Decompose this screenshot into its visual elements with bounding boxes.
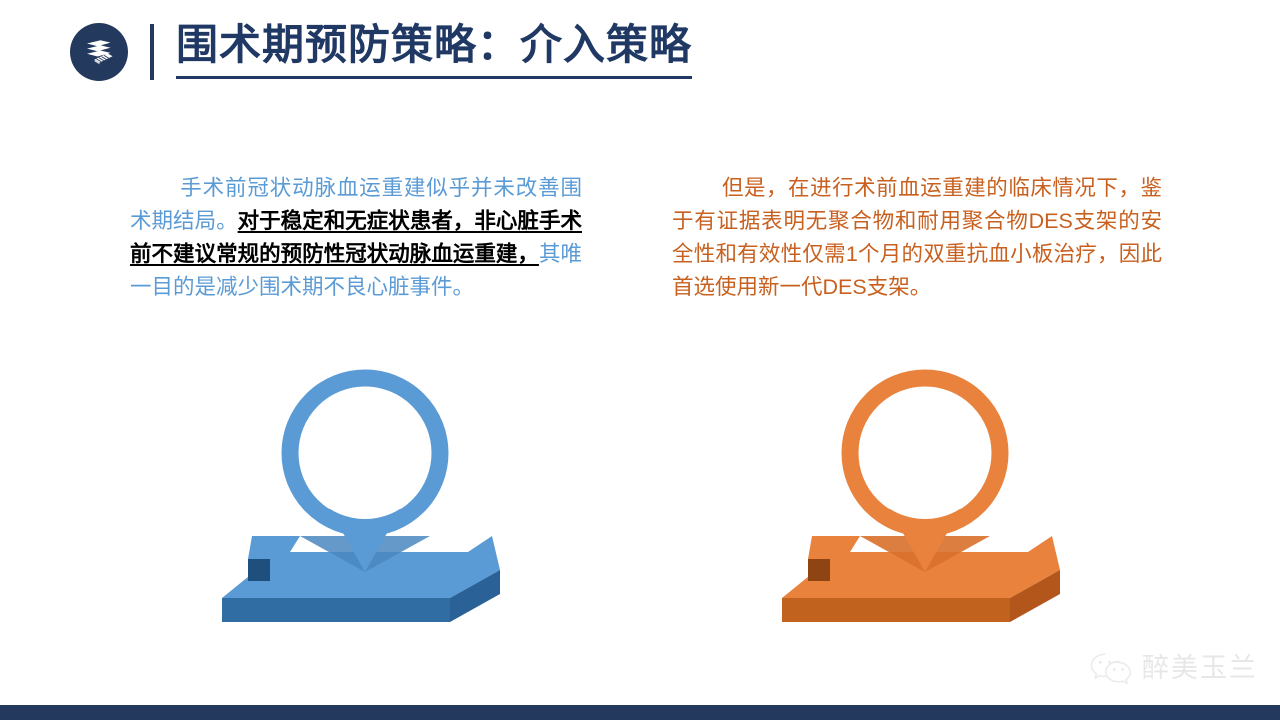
right-paragraph-text: 但是，在进行术前血运重建的临床情况下，鉴于有证据表明无聚合物和耐用聚合物DES支… bbox=[672, 176, 1162, 299]
map-pin-on-arrow-platform-icon-blue bbox=[200, 360, 530, 632]
wechat-icon bbox=[1089, 651, 1133, 685]
right-paragraph: 但是，在进行术前血运重建的临床情况下，鉴于有证据表明无聚合物和耐用聚合物DES支… bbox=[672, 172, 1162, 304]
slide-header: 围术期预防策略：介入策略 bbox=[70, 14, 692, 90]
watermark-text: 醉美玉兰 bbox=[1142, 655, 1258, 682]
header-divider bbox=[150, 24, 154, 80]
map-pin-on-arrow-platform-icon-orange bbox=[760, 360, 1090, 632]
footer-bar bbox=[0, 705, 1280, 720]
slide-canvas: 围术期预防策略：介入策略 手术前冠状动脉血运重建似乎并未改善围术期结局。对于稳定… bbox=[0, 0, 1280, 720]
right-text-column: 但是，在进行术前血运重建的临床情况下，鉴于有证据表明无聚合物和耐用聚合物DES支… bbox=[672, 172, 1162, 304]
left-paragraph: 手术前冠状动脉血运重建似乎并未改善围术期结局。对于稳定和无症状患者，非心脏手术前… bbox=[130, 172, 582, 304]
page-title: 围术期预防策略：介入策略 bbox=[176, 25, 692, 79]
watermark: 醉美玉兰 bbox=[1089, 651, 1258, 685]
book-stack-icon bbox=[70, 23, 128, 81]
left-text-column: 手术前冠状动脉血运重建似乎并未改善围术期结局。对于稳定和无症状患者，非心脏手术前… bbox=[130, 172, 582, 304]
